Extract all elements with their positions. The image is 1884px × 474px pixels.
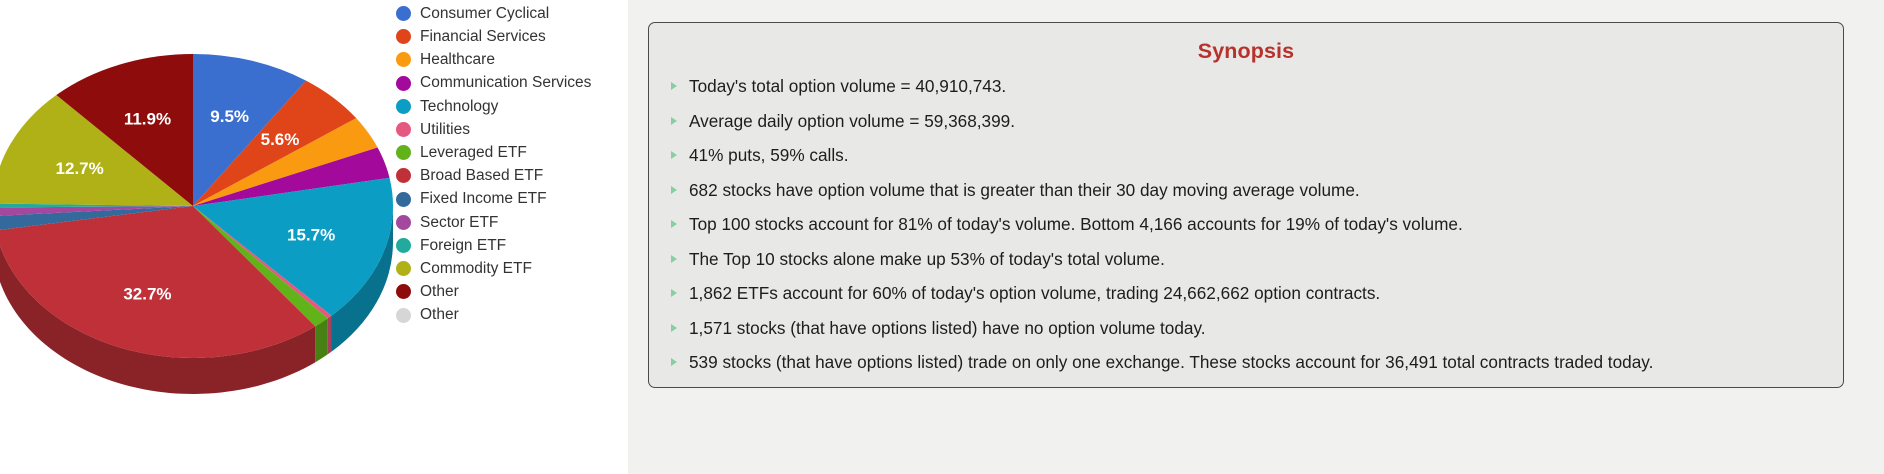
- legend-color-swatch-icon: [396, 308, 411, 323]
- legend-item-label: Financial Services: [420, 29, 546, 45]
- synopsis-bullet: Today's total option volume = 40,910,743…: [665, 76, 1827, 97]
- legend-item[interactable]: Leveraged ETF: [396, 141, 628, 164]
- pie-slice-percent-label: 15.7%: [287, 226, 335, 245]
- synopsis-bullet: Average daily option volume = 59,368,399…: [665, 111, 1827, 132]
- legend-color-swatch-icon: [396, 284, 411, 299]
- legend-color-swatch-icon: [396, 6, 411, 21]
- legend-item[interactable]: Financial Services: [396, 25, 628, 48]
- legend-color-swatch-icon: [396, 261, 411, 276]
- synopsis-bullet-text: 539 stocks (that have options listed) tr…: [689, 352, 1653, 372]
- synopsis-bullet: The Top 10 stocks alone make up 53% of t…: [665, 249, 1827, 270]
- pie-slice-percent-label: 9.5%: [210, 107, 249, 126]
- synopsis-bullet-text: Average daily option volume = 59,368,399…: [689, 111, 1015, 131]
- pie-slice-percent-label: 12.7%: [56, 159, 104, 178]
- pie-slice-percent-label: 32.7%: [123, 285, 171, 304]
- pie-slice-percent-label: 11.9%: [124, 109, 171, 128]
- arrow-right-icon: [671, 186, 677, 194]
- pie-chart: 9.5%5.6%15.7%32.7%12.7%11.9%: [0, 14, 398, 414]
- legend-item[interactable]: Foreign ETF: [396, 234, 628, 257]
- legend-item[interactable]: Other: [396, 280, 628, 303]
- legend-color-swatch-icon: [396, 52, 411, 67]
- synopsis-bullet: 682 stocks have option volume that is gr…: [665, 180, 1827, 201]
- legend-color-swatch-icon: [396, 145, 411, 160]
- legend-item-label: Commodity ETF: [420, 261, 532, 277]
- legend-item[interactable]: Fixed Income ETF: [396, 188, 628, 211]
- legend-item[interactable]: Sector ETF: [396, 211, 628, 234]
- legend-item-label: Fixed Income ETF: [420, 191, 547, 207]
- legend-color-swatch-icon: [396, 238, 411, 253]
- synopsis-bullet: 539 stocks (that have options listed) tr…: [665, 352, 1827, 373]
- legend-color-swatch-icon: [396, 99, 411, 114]
- legend-item[interactable]: Communication Services: [396, 72, 628, 95]
- synopsis-bullet-text: 41% puts, 59% calls.: [689, 145, 849, 165]
- synopsis-bullet-text: Top 100 stocks account for 81% of today'…: [689, 214, 1463, 234]
- arrow-right-icon: [671, 289, 677, 297]
- synopsis-region: Synopsis Today's total option volume = 4…: [628, 0, 1884, 474]
- legend-color-swatch-icon: [396, 122, 411, 137]
- synopsis-bullet-list: Today's total option volume = 40,910,743…: [665, 76, 1827, 373]
- pie-slice-depth: [328, 316, 332, 355]
- legend-color-swatch-icon: [396, 192, 411, 207]
- legend-item[interactable]: Broad Based ETF: [396, 164, 628, 187]
- pie-chart-svg: 9.5%5.6%15.7%32.7%12.7%11.9%: [0, 14, 398, 414]
- chart-legend: Consumer Cyclical Financial Services Hea…: [396, 0, 628, 327]
- legend-item-label: Broad Based ETF: [420, 168, 543, 184]
- arrow-right-icon: [671, 358, 677, 366]
- legend-item-label: Communication Services: [420, 75, 591, 91]
- legend-color-swatch-icon: [396, 29, 411, 44]
- synopsis-panel: Synopsis Today's total option volume = 4…: [648, 22, 1844, 388]
- synopsis-bullet: Top 100 stocks account for 81% of today'…: [665, 214, 1827, 235]
- arrow-right-icon: [671, 82, 677, 90]
- legend-color-swatch-icon: [396, 215, 411, 230]
- legend-item[interactable]: Consumer Cyclical: [396, 2, 628, 25]
- legend-item[interactable]: Commodity ETF: [396, 257, 628, 280]
- synopsis-bullet-text: 1,571 stocks (that have options listed) …: [689, 318, 1206, 338]
- arrow-right-icon: [671, 255, 677, 263]
- synopsis-bullet-text: The Top 10 stocks alone make up 53% of t…: [689, 249, 1165, 269]
- pie-slice-percent-label: 5.6%: [261, 130, 300, 149]
- arrow-right-icon: [671, 151, 677, 159]
- synopsis-title: Synopsis: [665, 39, 1827, 64]
- legend-item[interactable]: Technology: [396, 95, 628, 118]
- arrow-right-icon: [671, 117, 677, 125]
- legend-item[interactable]: Utilities: [396, 118, 628, 141]
- pie-chart-region: 9.5%5.6%15.7%32.7%12.7%11.9% Consumer Cy…: [0, 0, 628, 474]
- legend-item-label: Consumer Cyclical: [420, 6, 549, 22]
- legend-item-label: Healthcare: [420, 52, 495, 68]
- arrow-right-icon: [671, 324, 677, 332]
- page-root: 9.5%5.6%15.7%32.7%12.7%11.9% Consumer Cy…: [0, 0, 1884, 474]
- synopsis-bullet-text: Today's total option volume = 40,910,743…: [689, 76, 1006, 96]
- legend-item-label: Utilities: [420, 122, 470, 138]
- legend-color-swatch-icon: [396, 76, 411, 91]
- synopsis-bullet-text: 682 stocks have option volume that is gr…: [689, 180, 1360, 200]
- legend-item[interactable]: Healthcare: [396, 48, 628, 71]
- legend-item[interactable]: Other: [396, 303, 628, 326]
- synopsis-bullet-text: 1,862 ETFs account for 60% of today's op…: [689, 283, 1380, 303]
- synopsis-bullet: 1,571 stocks (that have options listed) …: [665, 318, 1827, 339]
- legend-item-label: Technology: [420, 99, 498, 115]
- legend-item-label: Other: [420, 307, 459, 323]
- legend-item-label: Sector ETF: [420, 215, 498, 231]
- legend-color-swatch-icon: [396, 168, 411, 183]
- pie-top-layer: [0, 54, 393, 358]
- legend-item-label: Leveraged ETF: [420, 145, 527, 161]
- synopsis-bullet: 41% puts, 59% calls.: [665, 145, 1827, 166]
- synopsis-bullet: 1,862 ETFs account for 60% of today's op…: [665, 283, 1827, 304]
- legend-item-label: Other: [420, 284, 459, 300]
- arrow-right-icon: [671, 220, 677, 228]
- legend-item-label: Foreign ETF: [420, 238, 506, 254]
